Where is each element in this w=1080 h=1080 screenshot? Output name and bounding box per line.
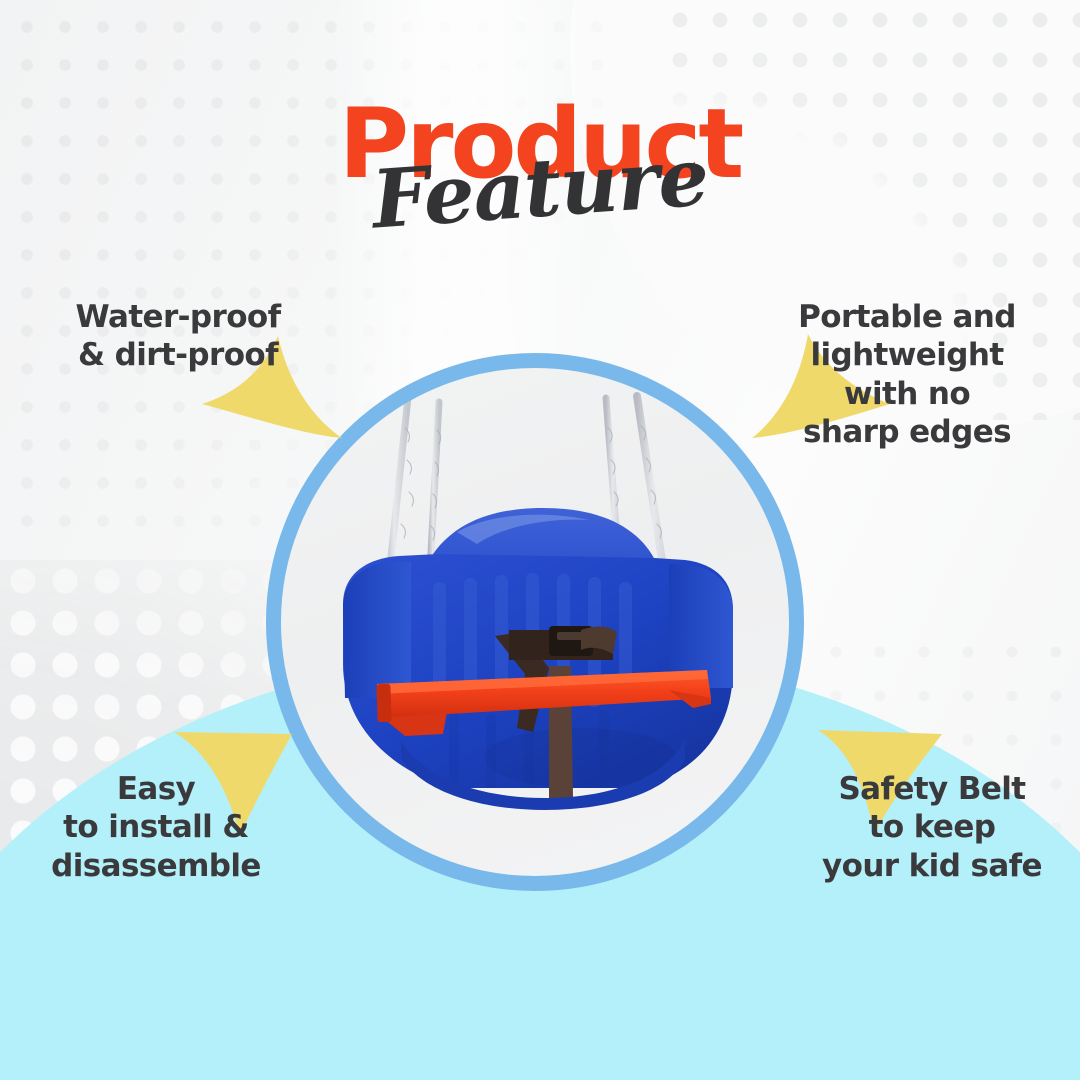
feature-label-easy-install: Easy to install & disassemble: [6, 770, 306, 885]
infographic-canvas: Product Feature: [0, 0, 1080, 1080]
feature-label-water-proof: Water-proof & dirt-proof: [28, 298, 328, 375]
feature-label-safety-belt: Safety Belt to keep your kid safe: [786, 770, 1078, 885]
feature-label-portable-lightweight: Portable and lightweight with no sharp e…: [752, 298, 1062, 452]
product-circle-ring: [266, 353, 804, 891]
